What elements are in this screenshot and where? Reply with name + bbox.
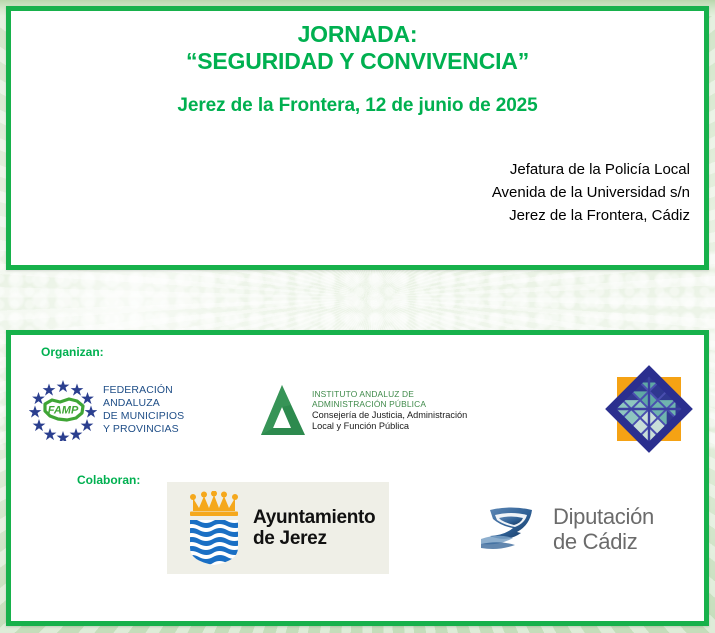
iaap-secondary-line-2: Local y Función Pública — [312, 421, 467, 433]
famp-name-line-4: Y PROVINCIAS — [103, 423, 184, 436]
ayuntamiento-name: Ayuntamiento de Jerez — [253, 507, 375, 549]
famp-name: FEDERACIÓN ANDALUZA DE MUNICIPIOS Y PROV… — [103, 384, 184, 437]
event-date: Jerez de la Frontera, 12 de junio de 202… — [11, 95, 704, 117]
organizers-label: Organizan: — [41, 345, 104, 359]
famp-name-line-2: ANDALUZA — [103, 397, 184, 410]
venue-address: Jefatura de la Policía Local Avenida de … — [492, 158, 690, 227]
diputacion-cadiz-waves-icon — [481, 503, 541, 555]
ayuntamiento-name-line-2: de Jerez — [253, 528, 375, 549]
logo-instituto-andaluz-administracion-publica: INSTITUTO ANDALUZ DE ADMINISTRACIÓN PÚBL… — [261, 379, 511, 441]
page-title: JORNADA: “SEGURIDAD Y CONVIVENCIA” — [11, 21, 704, 75]
header-panel: JORNADA: “SEGURIDAD Y CONVIVENCIA” Jerez… — [6, 6, 709, 270]
venue-line-2: Avenida de la Universidad s/n — [492, 181, 690, 204]
famp-name-line-3: DE MUNICIPIOS — [103, 410, 184, 423]
title-line-1: JORNADA: — [11, 21, 704, 48]
diputacion-name: Diputación de Cádiz — [553, 504, 654, 554]
collaborators-label: Colaboran: — [77, 473, 140, 487]
crown-and-waves-shield-icon — [185, 491, 243, 565]
famp-eu-stars-andalusia-icon: FAMP — [29, 379, 97, 441]
diputacion-name-line-1: Diputación — [553, 504, 654, 529]
logo-ayuntamiento-de-jerez: Ayuntamiento de Jerez — [167, 482, 389, 574]
iaap-primary-line-1: INSTITUTO ANDALUZ DE — [312, 389, 467, 399]
venue-line-3: Jerez de la Frontera, Cádiz — [492, 204, 690, 227]
policia-local-jerez-diamond-icon — [603, 363, 695, 455]
title-line-2: “SEGURIDAD Y CONVIVENCIA” — [11, 48, 704, 75]
iaap-secondary-line-1: Consejería de Justicia, Administración — [312, 410, 467, 422]
ayuntamiento-name-line-1: Ayuntamiento — [253, 507, 375, 528]
sponsors-panel: Organizan: Colaboran: — [6, 330, 709, 626]
famp-name-line-1: FEDERACIÓN — [103, 384, 184, 397]
famp-mark-text: FAMP — [48, 405, 79, 417]
junta-andalucia-a-icon — [261, 385, 305, 435]
logo-diputacion-de-cadiz: Diputación de Cádiz — [481, 497, 681, 561]
logo-famp: FAMP FEDERACIÓN ANDALUZA DE MUNICIPIOS Y… — [29, 377, 213, 443]
poster-slide: JORNADA: “SEGURIDAD Y CONVIVENCIA” Jerez… — [0, 0, 715, 633]
venue-line-1: Jefatura de la Policía Local — [492, 158, 690, 181]
iaap-primary-line-2: ADMINISTRACIÓN PÚBLICA — [312, 399, 467, 409]
diputacion-name-line-2: de Cádiz — [553, 529, 654, 554]
iaap-name: INSTITUTO ANDALUZ DE ADMINISTRACIÓN PÚBL… — [312, 387, 467, 433]
